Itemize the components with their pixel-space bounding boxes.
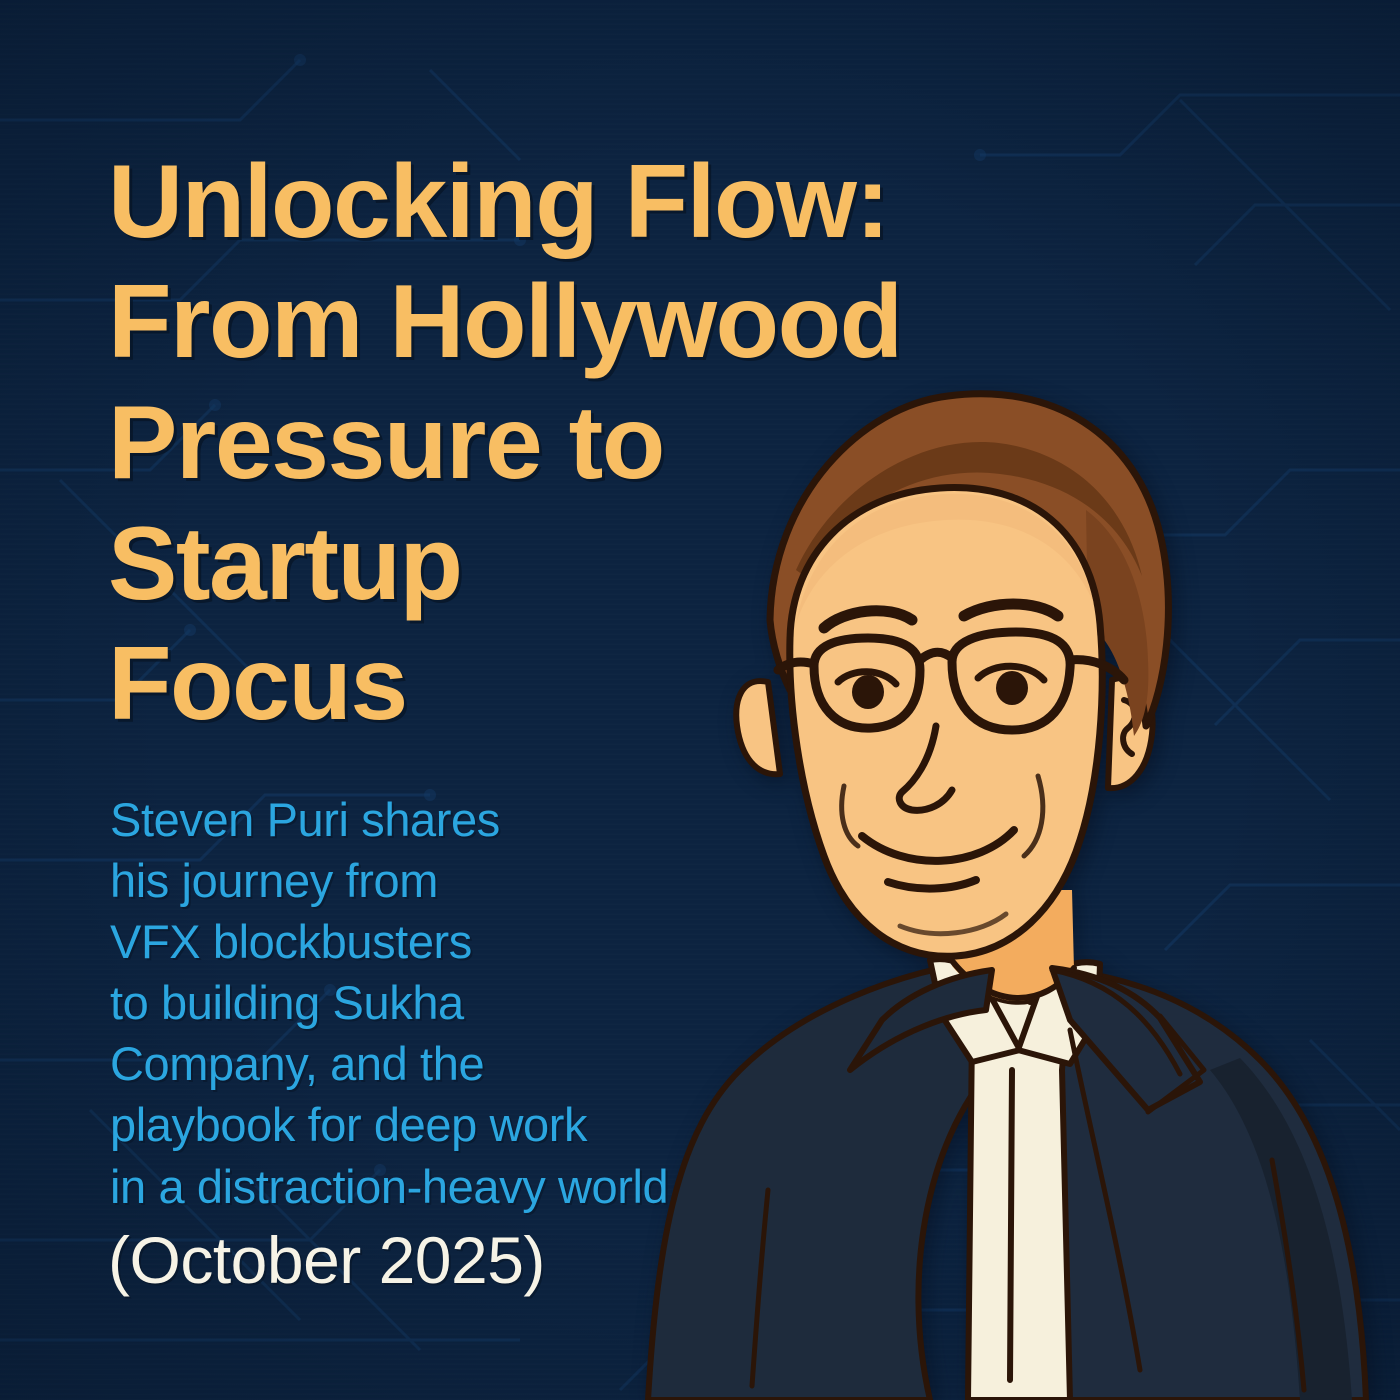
poster-content: Unlocking Flow: From Hollywood Pressure … [0,0,1400,1400]
podcast-cover-poster: Unlocking Flow: From Hollywood Pressure … [0,0,1400,1400]
poster-title: Unlocking Flow: From Hollywood Pressure … [108,142,1108,745]
poster-subtitle: Steven Puri shares his journey from VFX … [110,789,1010,1217]
poster-date: (October 2025) [108,1222,545,1298]
